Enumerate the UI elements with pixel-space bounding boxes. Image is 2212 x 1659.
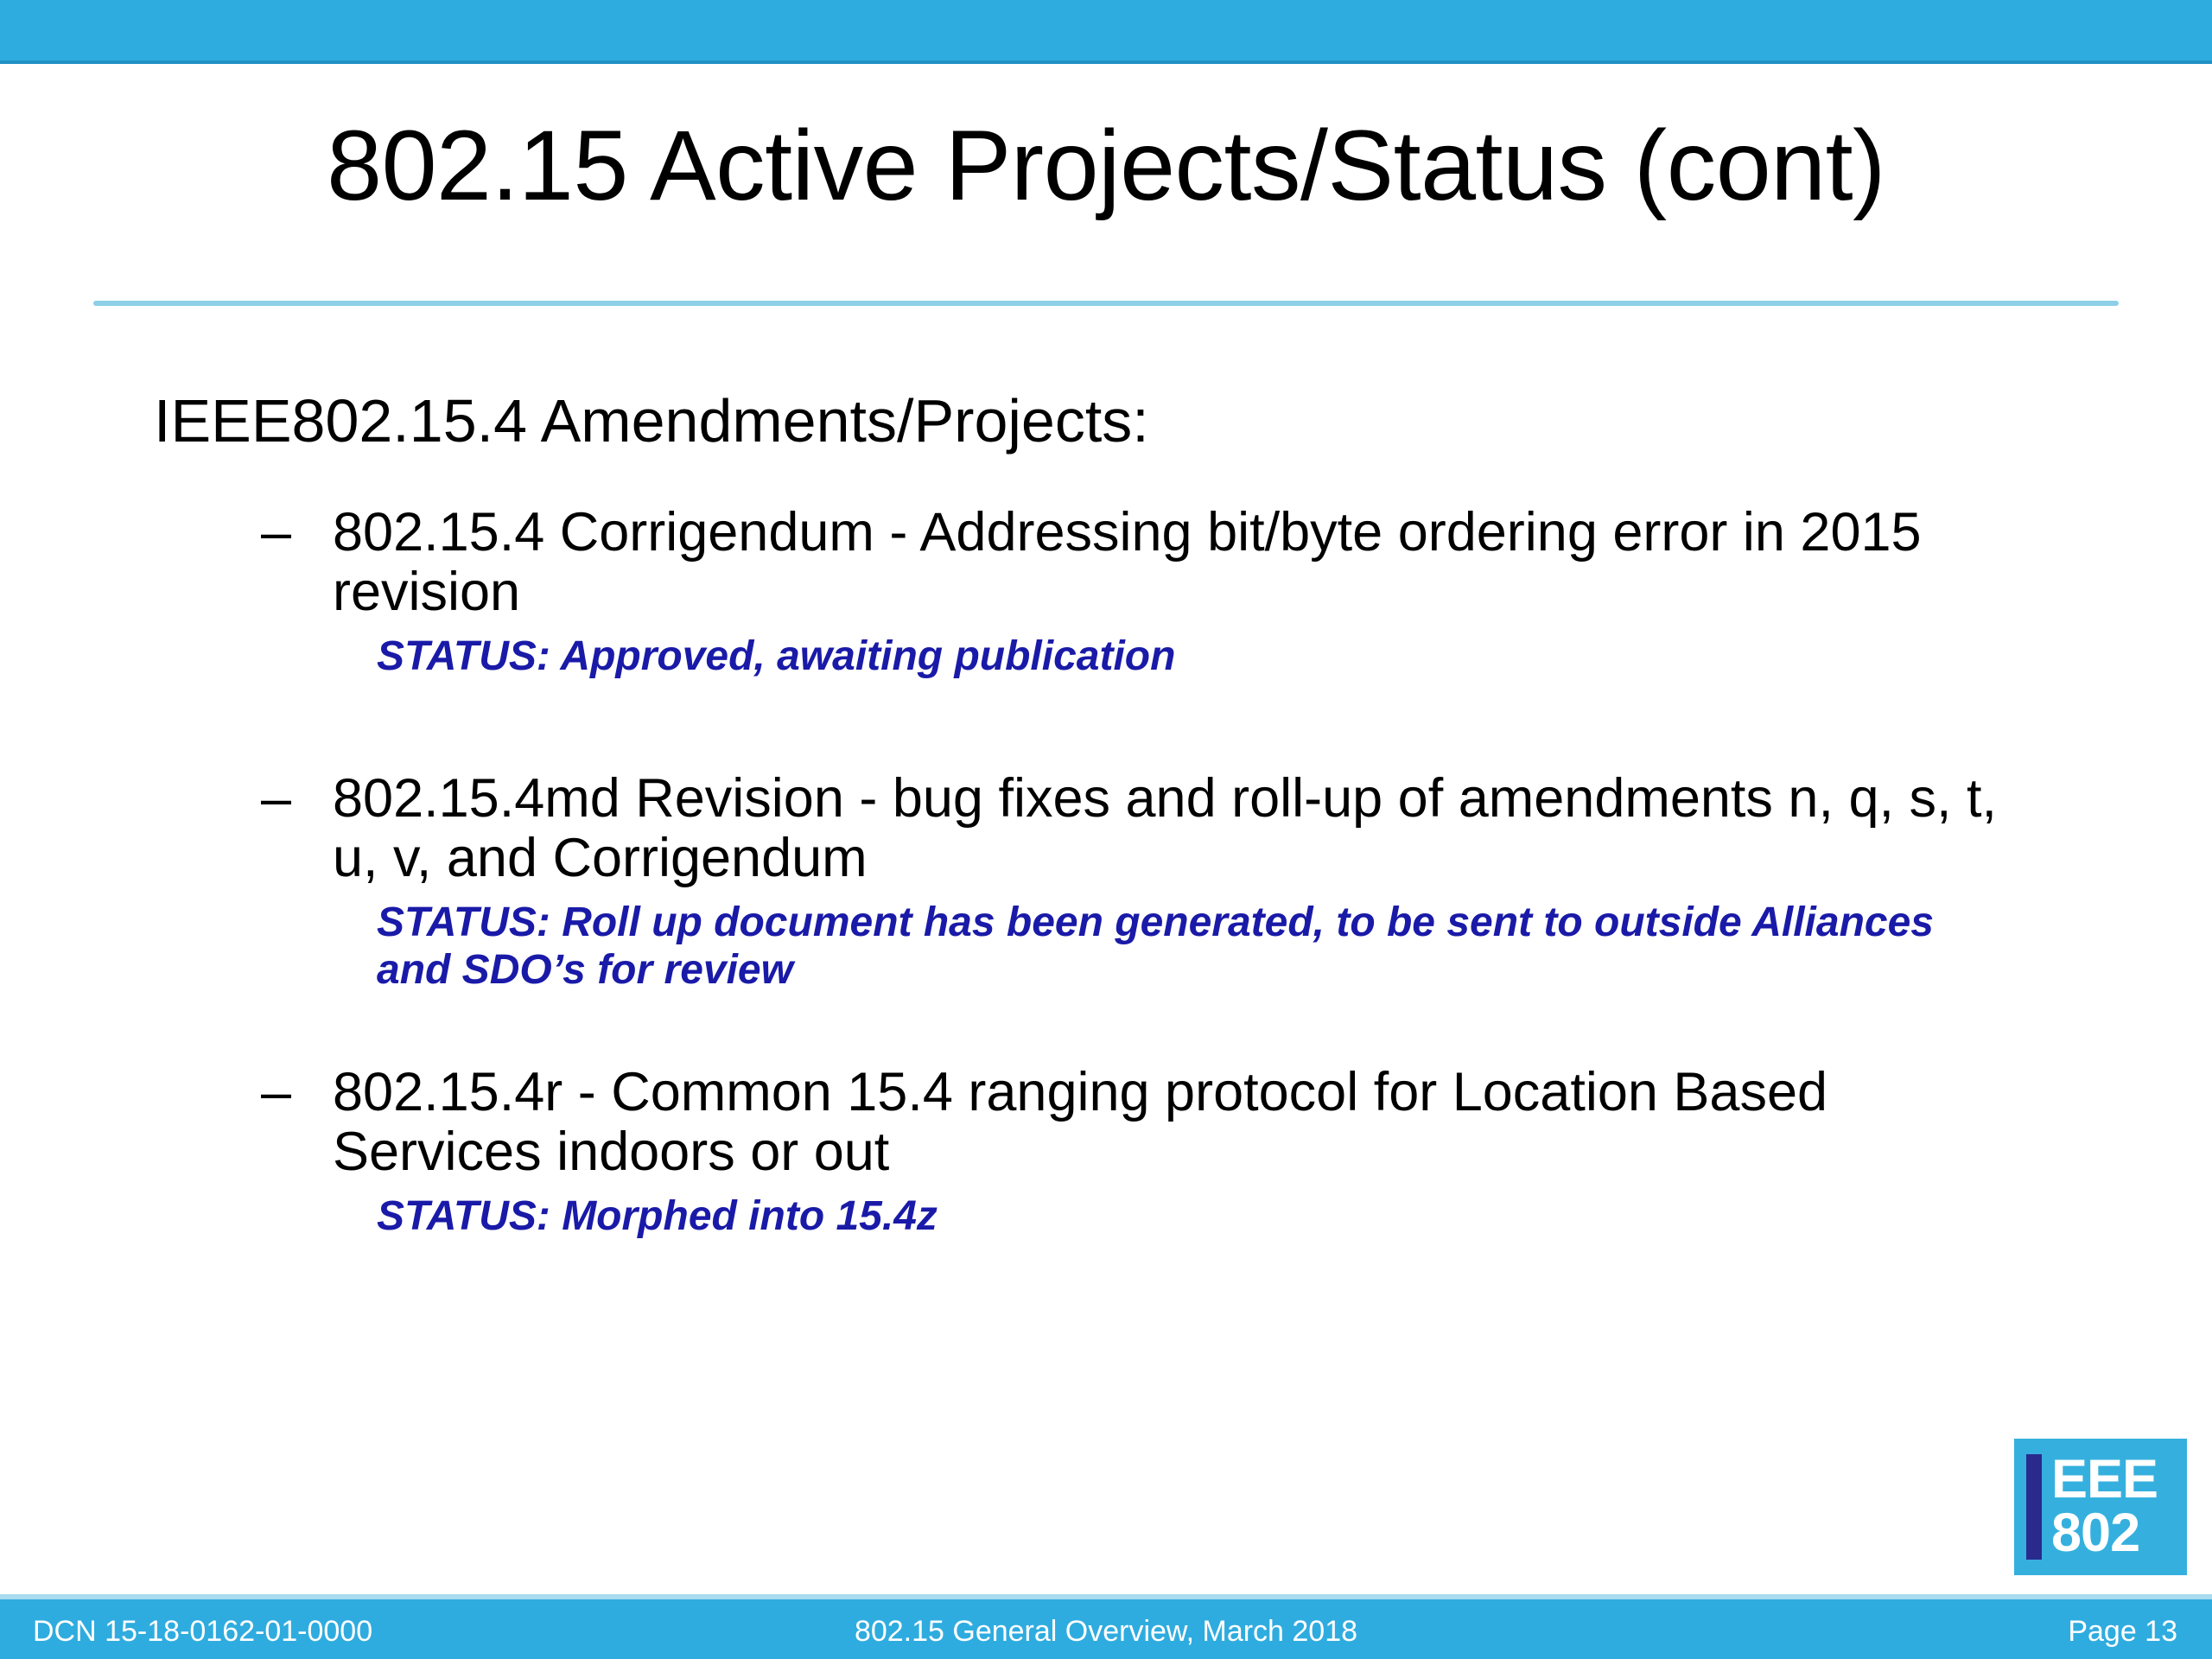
bullet-item-2-text: 802.15.4md Revision - bug fixes and roll… — [333, 768, 1997, 888]
ieee-802-logo: EEE 802 — [2014, 1439, 2187, 1575]
footer-document-title: 802.15 General Overview, March 2018 — [0, 1615, 2212, 1649]
slide-title: 802.15 Active Projects/Status (cont) — [93, 111, 2119, 222]
logo-text-line2: 802 — [2051, 1507, 2158, 1560]
footer-page-number: Page 13 — [2068, 1615, 2177, 1649]
top-accent-bar — [0, 0, 2212, 60]
top-accent-bar-edge — [0, 60, 2212, 64]
slide-canvas: 802.15 Active Projects/Status (cont) IEE… — [0, 0, 2212, 1659]
logo-text: EEE 802 — [2051, 1453, 2158, 1560]
footer-bar: DCN 15-18-0162-01-0000 802.15 General Ov… — [0, 1599, 2212, 1659]
status-line-1: STATUS: Approved, awaiting publication — [259, 633, 2001, 680]
bullet-group-1: – 802.15.4 Corrigendum - Addressing bit/… — [259, 503, 2039, 681]
bullet-dash-icon: – — [261, 503, 291, 563]
bullet-item-1: – 802.15.4 Corrigendum - Addressing bit/… — [259, 503, 2013, 621]
bullet-item-3-text: 802.15.4r - Common 15.4 ranging protocol… — [333, 1062, 1827, 1182]
bullet-dash-icon: – — [261, 769, 291, 829]
status-line-3: STATUS: Morphed into 15.4z — [259, 1193, 2001, 1240]
body-heading: IEEE802.15.4 Amendments/Projects: — [154, 387, 1149, 454]
title-divider-rule — [93, 301, 2119, 306]
logo-text-line1: EEE — [2051, 1453, 2158, 1507]
bullet-item-3: – 802.15.4r - Common 15.4 ranging protoc… — [259, 1063, 2013, 1181]
bullet-dash-icon: – — [261, 1063, 291, 1122]
logo-i-bar-icon — [2026, 1454, 2042, 1560]
bullet-group-2: – 802.15.4md Revision - bug fixes and ro… — [259, 769, 2039, 994]
bullet-item-1-text: 802.15.4 Corrigendum - Addressing bit/by… — [333, 502, 1922, 622]
status-line-2: STATUS: Roll up document has been genera… — [259, 899, 2001, 993]
bullet-item-2: – 802.15.4md Revision - bug fixes and ro… — [259, 769, 2013, 887]
bullet-group-3: – 802.15.4r - Common 15.4 ranging protoc… — [259, 1063, 2039, 1241]
